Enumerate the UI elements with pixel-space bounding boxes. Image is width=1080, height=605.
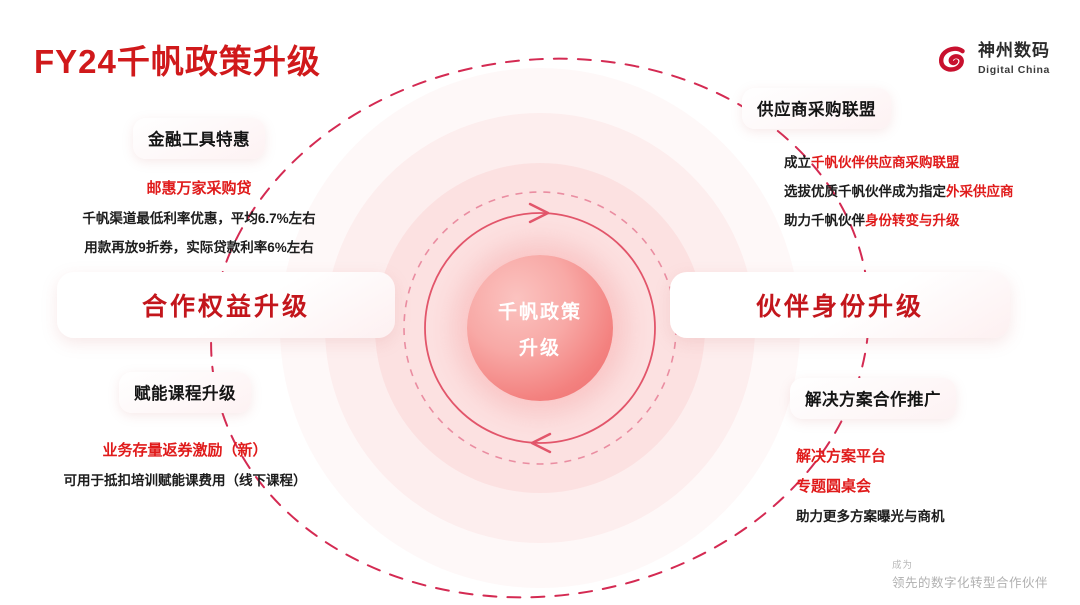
block-solution-tag: 解决方案合作推广 <box>790 378 956 419</box>
block-solution-highlight-1: 解决方案平台 <box>796 445 956 466</box>
block-supplier-line-3-red: 身份转变与升级 <box>865 213 960 228</box>
block-solution-highlight-2: 专题圆桌会 <box>796 475 956 496</box>
block-supplier-line-1-red: 千帆伙伴供应商采购联盟 <box>811 155 960 170</box>
digital-china-swirl-icon <box>936 43 970 77</box>
block-solution: 解决方案合作推广 解决方案平台 专题圆桌会 助力更多方案曝光与商机 <box>790 378 956 525</box>
block-supplier-line-3: 助力千帆伙伴身份转变与升级 <box>784 209 1014 229</box>
brand-logo: 神州数码 Digital China <box>936 42 1050 78</box>
hub-label-line1: 千帆政策 <box>498 297 582 324</box>
footer-tagline-large: 领先的数字化转型合作伙伴 <box>892 572 1048 591</box>
page-title: FY24千帆政策升级 <box>34 35 321 83</box>
main-button-partner-benefits[interactable]: 合作权益升级 <box>57 272 395 338</box>
block-finance-tag: 金融工具特惠 <box>133 118 265 159</box>
logo-text-cn: 神州数码 <box>978 41 1050 60</box>
block-supplier-line-1: 成立千帆伙伴供应商采购联盟 <box>784 151 1014 171</box>
block-finance: 金融工具特惠 邮惠万家采购贷 千帆渠道最低利率优惠，平均6.7%左右 用款再放9… <box>34 118 364 256</box>
block-supplier-line-2: 选拔优质千帆伙伴成为指定外采供应商 <box>784 180 1014 200</box>
block-finance-detail-2: 用款再放9折券，实际贷款利率6%左右 <box>34 236 364 256</box>
block-solution-detail-1: 助力更多方案曝光与商机 <box>796 505 956 525</box>
footer-tagline-small: 成为 <box>892 557 1048 571</box>
hub-core-circle: 千帆政策 升级 <box>467 255 613 401</box>
main-button-left-label: 合作权益升级 <box>142 287 310 323</box>
block-finance-highlight: 邮惠万家采购贷 <box>34 177 364 198</box>
block-course-highlight: 业务存量返券激励（新） <box>20 439 350 460</box>
logo-text-en: Digital China <box>978 64 1050 76</box>
center-hub: 千帆政策 升级 <box>390 178 690 478</box>
block-course: 赋能课程升级 业务存量返券激励（新） 可用于抵扣培训赋能课费用（线下课程） <box>20 372 350 489</box>
block-supplier-tag: 供应商采购联盟 <box>742 88 891 129</box>
block-supplier-line-3-black: 助力千帆伙伴 <box>784 213 865 228</box>
block-course-tag: 赋能课程升级 <box>119 372 251 413</box>
block-supplier-line-2-red: 外采供应商 <box>946 184 1014 199</box>
hub-label-line2: 升级 <box>519 333 561 360</box>
block-course-detail-1: 可用于抵扣培训赋能课费用（线下课程） <box>20 469 350 489</box>
block-supplier-line-2-black: 选拔优质千帆伙伴成为指定 <box>784 184 946 199</box>
main-button-right-label: 伙伴身份升级 <box>756 287 924 323</box>
main-button-partner-identity[interactable]: 伙伴身份升级 <box>670 272 1010 338</box>
block-supplier: 供应商采购联盟 成立千帆伙伴供应商采购联盟 选拔优质千帆伙伴成为指定外采供应商 … <box>742 88 1014 229</box>
block-finance-detail-1: 千帆渠道最低利率优惠，平均6.7%左右 <box>34 207 364 227</box>
block-supplier-line-1-black: 成立 <box>784 155 811 170</box>
footer-tagline: 成为 领先的数字化转型合作伙伴 <box>892 557 1048 591</box>
